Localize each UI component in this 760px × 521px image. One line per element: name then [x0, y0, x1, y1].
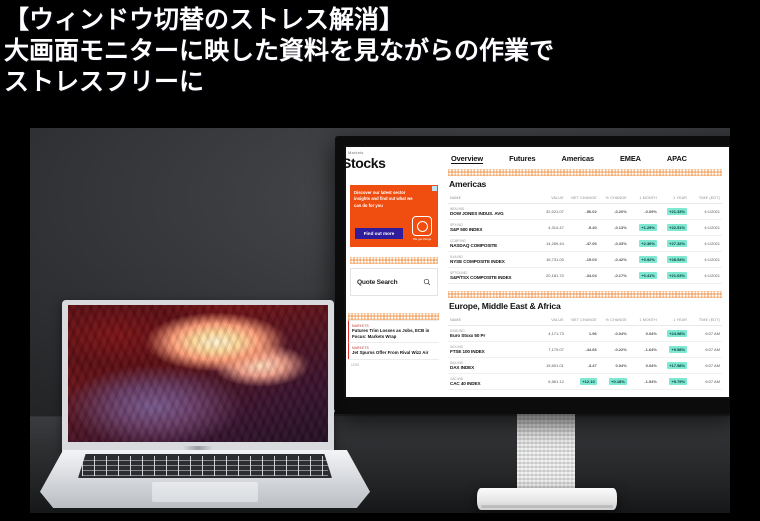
value-cell: 16,731.00 — [533, 252, 566, 268]
one-year-cell: +28.54% — [659, 252, 689, 268]
value-cell: 4,314.47 — [533, 220, 566, 236]
search-icon[interactable] — [423, 278, 431, 286]
one-month-cell: +2.36% — [629, 236, 659, 252]
laptop-trackpad[interactable] — [152, 482, 258, 502]
find-out-more-button[interactable]: Find out more — [355, 228, 403, 239]
pct-change-cell: -0.42% — [599, 252, 629, 268]
pct-change-cell: -0.13% — [599, 220, 629, 236]
headline-line-3: ストレスフリーに — [4, 66, 756, 97]
table-row[interactable]: DAX:INDDAX INDEX15,601.01-3.470.04%0.04%… — [448, 358, 722, 374]
sidebar-advertisement[interactable]: Discover our latest sector insights and … — [350, 185, 438, 247]
quote-search-input[interactable]: Quote Search — [350, 268, 438, 296]
value-cell: 32,021.07 — [533, 204, 566, 220]
section-title-emea: Europe, Middle East & Africa — [449, 301, 729, 311]
quote-search-label: Quote Search — [357, 279, 397, 286]
net-change-cell: -34.04 — [566, 268, 599, 284]
separator-band-americas — [448, 169, 722, 176]
time-cell: 4:1/2021 — [689, 236, 722, 252]
time-cell: 6:07 AM — [689, 326, 722, 342]
one-month-cell: +0.92% — [629, 252, 659, 268]
col-1-year: 1 YEAR — [659, 193, 689, 204]
americas-table: NAME VALUE NET CHANGE % CHANGE 1 MONTH 1… — [448, 193, 722, 284]
col-time: TIME (EDT) — [689, 315, 722, 326]
value-cell: 15,601.01 — [533, 358, 566, 374]
value-cell: 6,561.12 — [533, 374, 566, 390]
one-year-cell: +24.98% — [659, 326, 689, 342]
positive-badge: +9.58% — [669, 346, 687, 353]
table-row[interactable]: NYA:INDNYSE COMPOSITE INDEX16,731.00-19.… — [448, 252, 722, 268]
index-name-cell[interactable]: CAC:INDCAC 40 INDEX — [448, 374, 533, 390]
time-cell: 4:1/2021 — [689, 268, 722, 284]
positive-badge: +22.51% — [667, 224, 687, 231]
net-change-cell: -19.03 — [566, 252, 599, 268]
separator-band-top — [350, 257, 438, 264]
col-net-change: NET CHANGE — [566, 193, 599, 204]
net-change-cell: -3.47 — [566, 358, 599, 374]
table-row[interactable]: SPX:INDS&P 500 INDEX4,314.47-5.40-0.13%+… — [448, 220, 722, 236]
net-change-cell: +12.10 — [566, 374, 599, 390]
index-name-cell[interactable]: SX5E:INDEuro Stoxx 50 Pr — [448, 326, 533, 342]
table-header-row: NAME VALUE NET CHANGE % CHANGE 1 MONTH 1… — [448, 315, 722, 326]
time-cell: 6:07 AM — [689, 374, 722, 390]
headline-line-1: 【ウィンドウ切替のストレス解消】 — [4, 4, 756, 35]
pct-change-cell: +0.18% — [599, 374, 629, 390]
laptop-display — [68, 305, 328, 442]
index-name-cell[interactable]: NYA:INDNYSE COMPOSITE INDEX — [448, 252, 533, 268]
col-1-month: 1 MONTH — [629, 193, 659, 204]
headline-line-2: 大画面モニターに映した資料を見ながらの作業で — [4, 35, 756, 66]
positive-badge: +17.58% — [667, 362, 687, 369]
product-photo: Markets Stocks Discover our latest secto… — [30, 128, 730, 513]
index-name: CAC 40 INDEX — [450, 381, 531, 386]
time-cell: 4:1/2021 — [689, 252, 722, 268]
col-time: TIME (EDT) — [689, 193, 722, 204]
value-cell: 14,269.44 — [533, 236, 566, 252]
wallpaper-texture-b — [68, 305, 328, 442]
emea-table: NAME VALUE NET CHANGE % CHANGE 1 MONTH 1… — [448, 315, 722, 390]
one-year-cell: +21.03% — [659, 268, 689, 284]
positive-badge: +5.79% — [669, 378, 687, 385]
monitor-display-content: Markets Stocks Discover our latest secto… — [346, 147, 729, 397]
laptop-brand-logo — [183, 446, 213, 450]
tab-apac[interactable]: APAC — [667, 154, 687, 163]
index-name-cell[interactable]: CCMP:INDNASDAQ COMPOSITE — [448, 236, 533, 252]
pct-change-cell: -0.20% — [599, 204, 629, 220]
positive-badge: +0.92% — [639, 256, 657, 263]
one-year-cell: +5.79% — [659, 374, 689, 390]
advertiser-logo: We get things — [411, 216, 433, 241]
index-name: NYSE COMPOSITE INDEX — [450, 259, 531, 264]
pct-change-cell: -0.04% — [599, 326, 629, 342]
pct-change-cell: 0.04% — [599, 358, 629, 374]
one-month-cell: -0.09% — [629, 204, 659, 220]
markets-main-panel: Overview Futures Americas EMEA APAC Amer… — [441, 147, 729, 397]
index-name: Euro Stoxx 50 Pr — [450, 333, 531, 338]
one-month-cell: 0.04% — [629, 358, 659, 374]
ad-copy: Discover our latest sector insights and … — [354, 190, 416, 209]
col-value: VALUE — [533, 315, 566, 326]
one-year-cell: +27.32% — [659, 236, 689, 252]
table-row[interactable]: SPTSX:INDS&P/TSX COMPOSITE INDEX20,181.7… — [448, 268, 722, 284]
positive-badge: +0.41% — [639, 272, 657, 279]
separator-band-emea — [448, 291, 722, 298]
net-change-cell: -56.02 — [566, 204, 599, 220]
laptop — [40, 300, 370, 508]
index-name-cell[interactable]: UKX:INDFTSE 100 INDEX — [448, 342, 533, 358]
screenshot-root: 【ウィンドウ切替のストレス解消】 大画面モニターに映した資料を見ながらの作業で … — [0, 0, 760, 521]
tab-americas[interactable]: Americas — [561, 154, 593, 163]
one-year-cell: +9.58% — [659, 342, 689, 358]
one-year-cell: +17.58% — [659, 358, 689, 374]
pct-change-cell: -0.33% — [599, 236, 629, 252]
table-row[interactable]: UKX:INDFTSE 100 INDEX7,170.07-44.66-0.22… — [448, 342, 722, 358]
table-row[interactable]: CCMP:INDNASDAQ COMPOSITE14,269.44-47.06-… — [448, 236, 722, 252]
tab-emea[interactable]: EMEA — [620, 154, 641, 163]
col-pct-change: % CHANGE — [599, 193, 629, 204]
time-cell: 6:07 AM — [689, 358, 722, 374]
col-1-year: 1 YEAR — [659, 315, 689, 326]
index-name: S&P 500 INDEX — [450, 227, 531, 232]
one-month-cell: -1.54% — [629, 374, 659, 390]
one-year-cell: +21.33% — [659, 204, 689, 220]
brand-wordmark: Stocks — [346, 155, 386, 171]
pct-change-cell: -0.22% — [599, 342, 629, 358]
one-month-cell: -1.64% — [629, 342, 659, 358]
section-title-americas: Americas — [449, 179, 729, 189]
value-cell: 7,170.07 — [533, 342, 566, 358]
net-change-cell: -47.06 — [566, 236, 599, 252]
positive-badge: +28.54% — [667, 256, 687, 263]
value-cell: 4,171.73 — [533, 326, 566, 342]
positive-badge: +24.98% — [667, 330, 687, 337]
col-net-change: NET CHANGE — [566, 315, 599, 326]
close-icon[interactable] — [432, 186, 437, 191]
index-name: S&P/TSX COMPOSITE INDEX — [450, 275, 531, 280]
laptop-keyboard[interactable] — [78, 454, 332, 478]
monitor-stand-neck — [517, 414, 575, 494]
one-month-cell: +1.29% — [629, 220, 659, 236]
laptop-lid — [62, 300, 334, 452]
table-row[interactable]: SX5E:INDEuro Stoxx 50 Pr4,171.731.96-0.0… — [448, 326, 722, 342]
positive-badge: +2.36% — [639, 240, 657, 247]
index-name-cell[interactable]: SPTSX:INDS&P/TSX COMPOSITE INDEX — [448, 268, 533, 284]
one-year-cell: +22.51% — [659, 220, 689, 236]
col-name: NAME — [448, 193, 533, 204]
markets-tabs: Overview Futures Americas EMEA APAC — [441, 147, 729, 169]
table-row[interactable]: INDU:INDDOW JONES INDUS. AVG32,021.07-56… — [448, 204, 722, 220]
external-monitor: Markets Stocks Discover our latest secto… — [335, 136, 730, 414]
index-name: DAX INDEX — [450, 365, 531, 370]
positive-badge: +0.18% — [609, 378, 627, 385]
time-cell: 4:1/2021 — [689, 220, 722, 236]
quote-search-block: Quote Search — [350, 257, 438, 296]
advertiser-tagline: We get things — [411, 237, 433, 241]
tab-overview[interactable]: Overview — [451, 154, 483, 163]
index-name-cell[interactable]: DAX:INDDAX INDEX — [448, 358, 533, 374]
time-cell: 4:1/2021 — [689, 204, 722, 220]
positive-badge: +27.32% — [667, 240, 687, 247]
index-name: DOW JONES INDUS. AVG — [450, 211, 531, 216]
one-month-cell: +0.41% — [629, 268, 659, 284]
table-row[interactable]: CAC:INDCAC 40 INDEX6,561.12+12.10+0.18%-… — [448, 374, 722, 390]
one-month-cell: 0.04% — [629, 326, 659, 342]
tab-futures[interactable]: Futures — [509, 154, 535, 163]
col-pct-change: % CHANGE — [599, 315, 629, 326]
col-1-month: 1 MONTH — [629, 315, 659, 326]
positive-badge: +21.33% — [667, 208, 687, 215]
monitor-chin — [335, 399, 730, 414]
net-change-cell: -44.66 — [566, 342, 599, 358]
table-header-row: NAME VALUE NET CHANGE % CHANGE 1 MONTH 1… — [448, 193, 722, 204]
index-name: NASDAQ COMPOSITE — [450, 243, 531, 248]
positive-badge: +12.10 — [580, 378, 596, 385]
page-title: 【ウィンドウ切替のストレス解消】 大画面モニターに映した資料を見ながらの作業で … — [4, 4, 756, 97]
col-name: NAME — [448, 315, 533, 326]
col-value: VALUE — [533, 193, 566, 204]
time-cell: 6:07 AM — [689, 342, 722, 358]
pct-change-cell: -0.17% — [599, 268, 629, 284]
index-name-cell[interactable]: INDU:INDDOW JONES INDUS. AVG — [448, 204, 533, 220]
value-cell: 20,181.70 — [533, 268, 566, 284]
monitor-stand-base — [477, 488, 617, 510]
index-name: FTSE 100 INDEX — [450, 349, 531, 354]
net-change-cell: -5.40 — [566, 220, 599, 236]
net-change-cell: 1.96 — [566, 326, 599, 342]
positive-badge: +1.29% — [639, 224, 657, 231]
index-name-cell[interactable]: SPX:INDS&P 500 INDEX — [448, 220, 533, 236]
positive-badge: +21.03% — [667, 272, 687, 279]
advertiser-mark-icon — [412, 216, 432, 236]
